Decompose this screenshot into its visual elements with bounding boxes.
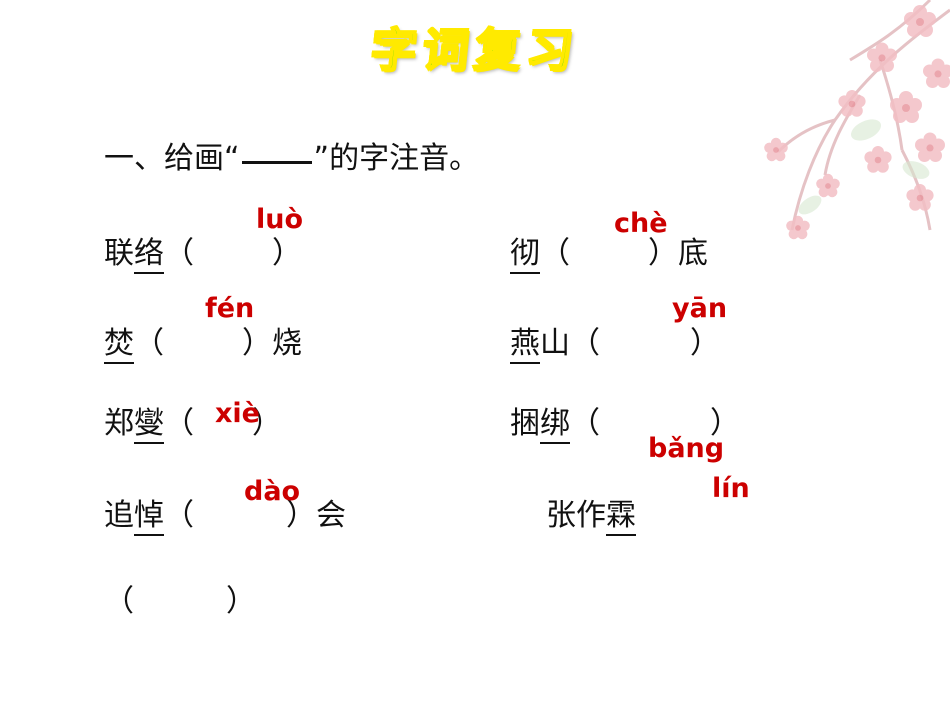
close-paren: ） — [648, 236, 678, 271]
word-tail: 烧 — [272, 326, 302, 361]
close-paren: ） — [272, 236, 302, 271]
answer-zhangzuolin: lín — [712, 475, 750, 503]
instruction-prefix: 一、给画“ — [104, 141, 240, 176]
question-yanshan: 燕山（） — [510, 318, 720, 362]
answer-kunbang: bǎng — [648, 435, 724, 463]
answer-zhengxie: xiè — [215, 400, 261, 428]
open-paren: （ — [104, 584, 134, 619]
open-paren: （ — [164, 498, 194, 533]
question-chedi: 彻（）底 — [510, 228, 708, 272]
word-prefix: 联 — [104, 236, 134, 271]
word-prefix: 郑 — [104, 406, 134, 441]
open-paren: （ — [540, 236, 570, 271]
word-prefix: 捆 — [510, 406, 540, 441]
instruction-suffix: ”的字注音。 — [314, 141, 480, 176]
answer-chedi: chè — [614, 210, 668, 238]
word-underlined: 悼 — [134, 498, 164, 536]
word-underlined: 络 — [134, 236, 164, 274]
open-paren: （ — [134, 326, 164, 361]
answer-fenshao: fén — [205, 295, 254, 323]
word-underlined: 霖 — [606, 498, 636, 536]
question-fenshao: 焚（）烧 — [104, 318, 302, 362]
word-tail: 底 — [678, 236, 708, 271]
word-underlined: 焚 — [104, 326, 134, 364]
word-underlined: 绑 — [540, 406, 570, 444]
word-mid: 山 — [540, 326, 570, 361]
word-prefix: 张作 — [546, 498, 606, 533]
close-paren: ） — [242, 326, 272, 361]
answer-zhuidao: dào — [244, 478, 290, 506]
answer-yanshan: yān — [672, 295, 727, 323]
open-paren: （ — [570, 326, 600, 361]
question-zhangzuolin-parens: （） — [104, 576, 256, 620]
instruction-blank — [242, 161, 312, 164]
word-prefix: 追 — [104, 498, 134, 533]
word-underlined: 燮 — [134, 406, 164, 444]
close-paren: ） — [226, 584, 256, 619]
open-paren: （ — [164, 236, 194, 271]
question-zhuidao: 追悼（）会 — [104, 490, 346, 534]
answer-lianluo: luò — [256, 206, 303, 234]
open-paren: （ — [164, 406, 194, 441]
word-underlined: 彻 — [510, 236, 540, 274]
close-paren: ） — [690, 326, 720, 361]
instruction-line: 一、给画“”的字注音。 — [104, 133, 479, 177]
question-zhangzuolin: 张作霖 — [546, 490, 636, 534]
open-paren: （ — [570, 406, 600, 441]
slide-body: 一、给画“”的字注音。 联络（） luò 彻（）底 chè 焚（）烧 fén 燕… — [0, 0, 950, 713]
word-underlined: 燕 — [510, 326, 540, 364]
word-tail: 会 — [316, 498, 346, 533]
